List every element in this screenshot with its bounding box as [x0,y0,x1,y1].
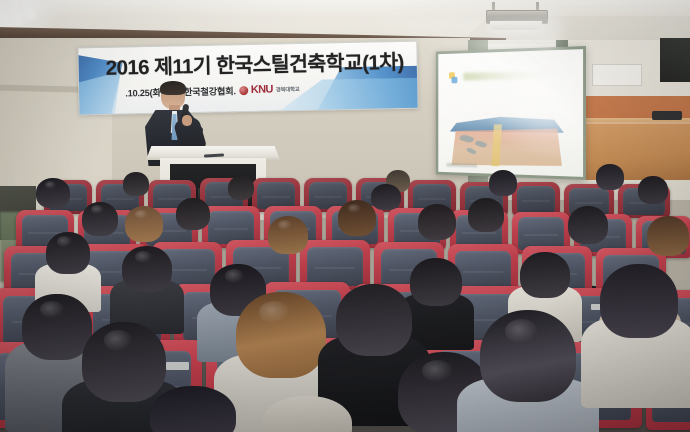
projection-screen [438,49,583,177]
wall-notice [592,64,642,86]
attendee [125,206,163,242]
speaker-hand [182,115,192,126]
attendee [150,386,236,432]
attendee-head [489,170,517,196]
attendee [236,292,326,378]
attendee [418,204,456,240]
attendee [268,216,308,254]
knu-mark: KNU [251,84,273,96]
attendee [82,202,118,236]
attendee [489,170,517,196]
attendee-head [647,216,689,256]
attendee [480,310,576,402]
attendee [228,176,254,200]
knu-logo-icon [239,86,248,95]
attendee [122,246,172,292]
banner-title: 2016 제11기 한국스틸건축학교(1차) [98,45,411,81]
speaker-hair [160,81,186,95]
seminar-hall-photo: 2016 제11기 한국스틸건축학교(1차) .10.25(화) / 한국철강협… [0,0,690,432]
attendee-head [176,198,210,230]
attendee [596,164,624,190]
attendee [468,198,504,232]
attendee [336,284,412,356]
attendee [647,216,689,256]
attendee [638,176,668,204]
attendee [46,232,90,274]
attendee-head [600,264,678,338]
attendee [262,396,352,432]
attendee-head [336,284,412,356]
attendee [123,172,149,196]
attendee [600,264,678,338]
attendee-head [410,258,462,306]
attendee-head [596,164,624,190]
ceiling-bevel [0,0,690,16]
attendee [338,200,376,236]
attendee [568,206,608,244]
attendee-head [520,252,570,298]
dark-corner-recess [660,38,690,82]
attendee [410,258,462,306]
attendee-head [568,206,608,244]
seat [512,182,560,216]
attendee-head [468,198,504,232]
projector-lens [490,21,542,30]
attendee [520,252,570,298]
attendee-head [262,396,352,432]
attendee [176,198,210,230]
ceiling-projector [484,2,550,32]
attendee-head [150,386,236,432]
projection-screen-frame [436,46,586,180]
object-on-counter [652,111,682,120]
slide-logo-icon [448,72,458,83]
attendee-head [418,204,456,240]
attendee [36,178,70,208]
knu-name: 경북대학교 [276,85,300,93]
screen-hotspot-glare [474,49,584,159]
attendee-head [123,172,149,196]
attendee-head [638,176,668,204]
event-banner: 2016 제11기 한국스틸건축학교(1차) .10.25(화) / 한국철강협… [77,41,418,116]
attendee-head [228,176,254,200]
